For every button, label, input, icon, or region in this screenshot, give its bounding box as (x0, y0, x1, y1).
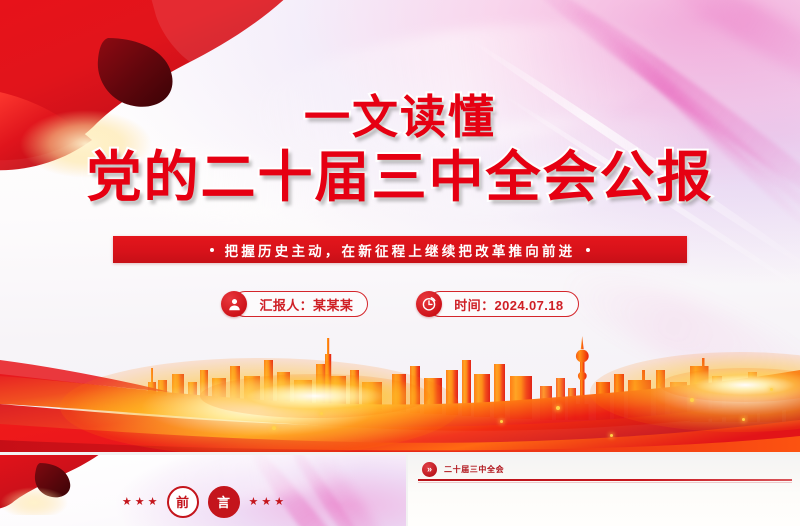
content-slide[interactable]: » 二十届三中全会 (408, 455, 800, 526)
title-line-1: 一文读懂 (0, 94, 800, 140)
city-skyline-scene (0, 330, 800, 452)
content-slide-title: 二十届三中全会 (444, 464, 504, 475)
title-line-2: 党的二十届三中全会公报 (0, 150, 800, 205)
star-icon: ★ (148, 495, 158, 508)
seal-qian-char: 前 (176, 492, 189, 511)
star-icon: ★ (135, 495, 145, 508)
presenter-pill[interactable]: 汇报人：某某某 (221, 291, 368, 317)
star-icon: ★ (249, 495, 259, 508)
subtitle-banner: 把握历史主动，在新征程上继续把改革推向前进 (113, 236, 687, 263)
presenter-label: 汇报人：某某某 (232, 291, 368, 317)
bullet-dot-right-icon (586, 248, 590, 252)
seal-yan: 言 (208, 486, 240, 518)
star-icon: ★ (274, 495, 284, 508)
date-label: 时间：2024.07.18 (427, 291, 578, 317)
content-slide-header: » 二十届三中全会 (422, 462, 504, 477)
double-chevron-icon: » (422, 462, 437, 477)
title-block: 一文读懂 党的二十届三中全会公报 (0, 94, 800, 205)
star-icon: ★ (261, 495, 271, 508)
cover-slide[interactable]: 一文读懂 党的二十届三中全会公报 把握历史主动，在新征程上继续把改革推向前进 汇… (0, 0, 800, 452)
preface-slide[interactable]: ★ ★ ★ 前 言 ★ ★ ★ (0, 455, 406, 526)
date-pill[interactable]: 时间：2024.07.18 (416, 291, 578, 317)
seal-yan-char: 言 (217, 492, 230, 511)
header-rule-secondary (418, 482, 792, 483)
preface-emblem-row: ★ ★ ★ 前 言 ★ ★ ★ (0, 455, 406, 526)
stars-right: ★ ★ ★ (249, 495, 285, 508)
star-icon: ★ (122, 495, 132, 508)
seal-qian: 前 (167, 486, 199, 518)
stars-left: ★ ★ ★ (122, 495, 158, 508)
meta-pill-row: 汇报人：某某某 时间：2024.07.18 (0, 291, 800, 317)
bullet-dot-left-icon (210, 248, 214, 252)
subtitle-text: 把握历史主动，在新征程上继续把改革推向前进 (225, 240, 576, 260)
ppt-template-preview: 一文读懂 党的二十届三中全会公报 把握历史主动，在新征程上继续把改革推向前进 汇… (0, 0, 800, 526)
